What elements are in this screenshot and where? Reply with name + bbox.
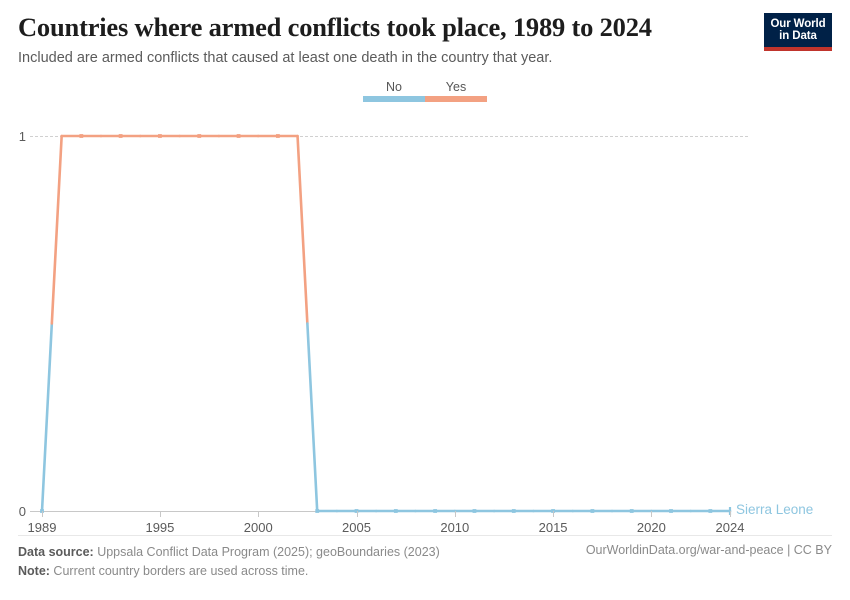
- y-axis-tick-0: 0: [2, 504, 26, 519]
- note-text: Current country borders are used across …: [50, 564, 308, 578]
- source-label: Data source:: [18, 545, 94, 559]
- chart-footer: Data source: Uppsala Conflict Data Progr…: [18, 543, 832, 582]
- x-axis-tick-mark: [651, 511, 652, 517]
- legend-item-yes-label[interactable]: Yes: [425, 80, 487, 94]
- chart-header: Countries where armed conflicts took pla…: [18, 12, 778, 68]
- x-axis-tick-mark: [160, 511, 161, 517]
- our-world-in-data-logo[interactable]: Our World in Data: [764, 13, 832, 51]
- legend-item-no-label[interactable]: No: [363, 80, 425, 94]
- x-axis-tick-mark: [730, 511, 731, 517]
- series-data-point[interactable]: [119, 134, 123, 138]
- chart-page: Countries where armed conflicts took pla…: [0, 0, 850, 600]
- plot-inner: 1 0 19891995200020052010201520202024 Sie…: [30, 118, 820, 528]
- series-data-point[interactable]: [197, 134, 201, 138]
- footer-note-row: Note: Current country borders are used a…: [18, 562, 832, 581]
- x-axis-tick-mark: [357, 511, 358, 517]
- logo-line-2: in Data: [779, 30, 817, 42]
- series-segment: [298, 136, 308, 324]
- x-axis-tick-label: 2024: [716, 520, 745, 535]
- plot-area: 1 0 19891995200020052010201520202024 Sie…: [0, 118, 850, 528]
- x-axis-tick-label: 2020: [637, 520, 666, 535]
- legend-swatch-yes[interactable]: [425, 96, 487, 102]
- x-axis-tick-label: 1995: [145, 520, 174, 535]
- footer-divider: [18, 535, 832, 536]
- series-segment: [307, 324, 317, 512]
- series-label-sierra-leone[interactable]: Sierra Leone: [736, 502, 813, 517]
- logo-line-1: Our World: [770, 18, 825, 30]
- legend-labels: No Yes: [363, 80, 487, 95]
- chart-subtitle: Included are armed conflicts that caused…: [18, 49, 778, 68]
- chart-legend: No Yes: [363, 80, 487, 104]
- x-axis-tick-mark: [455, 511, 456, 517]
- x-axis-tick-label: 2000: [244, 520, 273, 535]
- x-axis-tick-label: 2015: [539, 520, 568, 535]
- series-data-point[interactable]: [276, 134, 280, 138]
- legend-swatch-no[interactable]: [363, 96, 425, 102]
- x-axis: 19891995200020052010201520202024: [30, 511, 820, 545]
- legend-swatches: [363, 96, 487, 102]
- attribution-link[interactable]: OurWorldinData.org/war-and-peace | CC BY: [586, 543, 832, 557]
- series-data-point[interactable]: [158, 134, 162, 138]
- x-axis-tick-mark: [258, 511, 259, 517]
- y-axis-tick-1: 1: [2, 129, 26, 144]
- source-text: Uppsala Conflict Data Program (2025); ge…: [94, 545, 440, 559]
- series-data-point[interactable]: [79, 134, 83, 138]
- x-axis-tick-mark: [553, 511, 554, 517]
- page-title: Countries where armed conflicts took pla…: [18, 12, 778, 42]
- x-axis-tick-label: 1989: [28, 520, 57, 535]
- series-lines: [30, 118, 820, 528]
- x-axis-tick-mark: [42, 511, 43, 517]
- series-data-point[interactable]: [237, 134, 241, 138]
- series-segment: [52, 136, 62, 324]
- series-segment: [42, 324, 52, 512]
- x-axis-tick-label: 2005: [342, 520, 371, 535]
- x-axis-tick-label: 2010: [440, 520, 469, 535]
- note-label: Note:: [18, 564, 50, 578]
